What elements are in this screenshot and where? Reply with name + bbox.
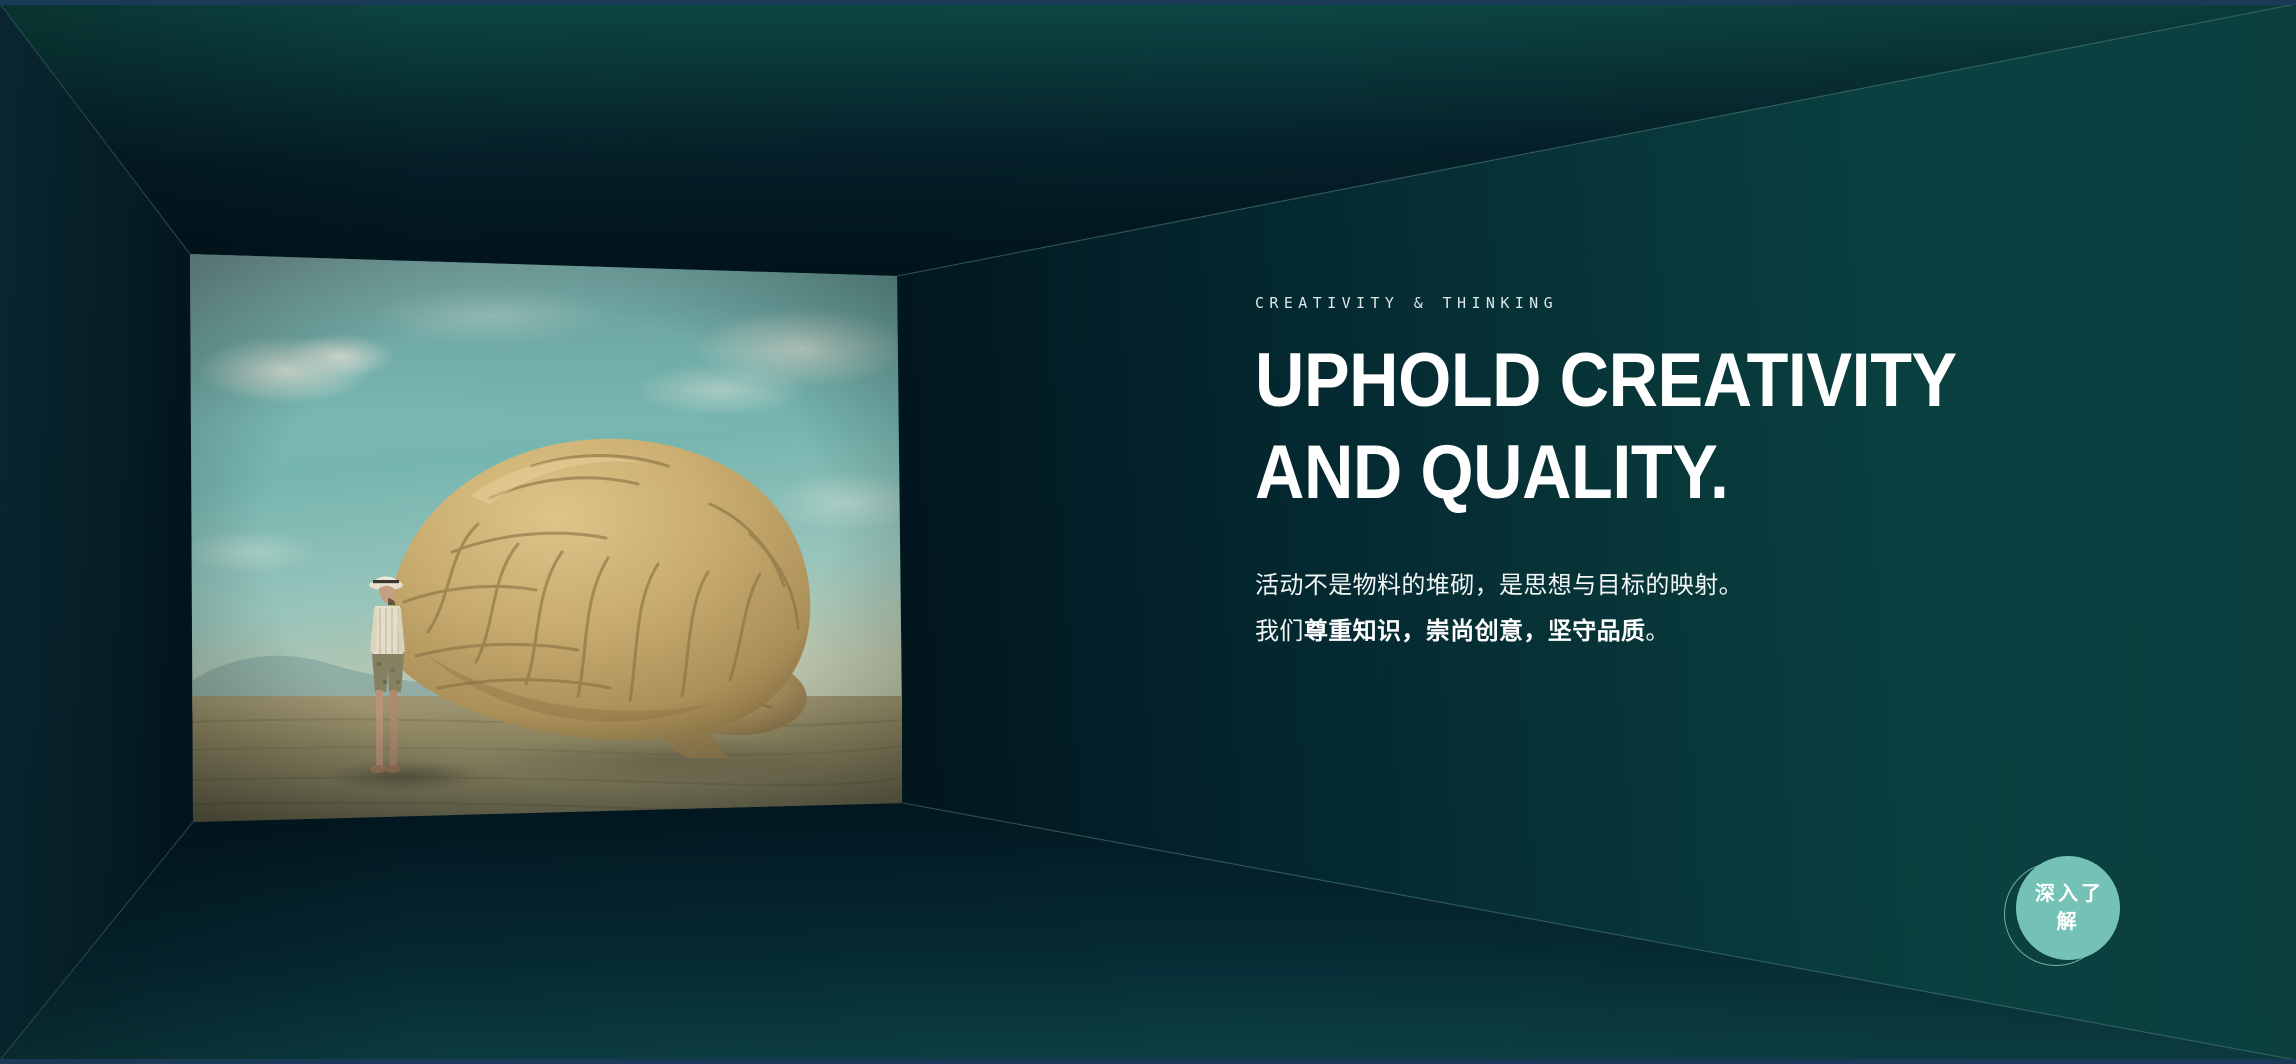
hero-section: CREATIVITY & THINKING UPHOLD CREATIVITY … bbox=[0, 0, 2296, 1064]
description-line-2-suffix: 。 bbox=[1645, 618, 1669, 645]
artwork-vignette bbox=[190, 252, 902, 822]
hero-description: 活动不是物料的堆砌，是思想与目标的映射。 我们尊重知识，崇尚创意，坚守品质。 bbox=[1255, 563, 2115, 655]
cta-label: 深入了解 bbox=[2031, 880, 2105, 936]
headline-line-1: UPHOLD CREATIVITY bbox=[1255, 335, 2029, 427]
page-title: UPHOLD CREATIVITY AND QUALITY. bbox=[1255, 335, 2029, 519]
page-edge-strip-top bbox=[0, 0, 2296, 5]
cta-disc[interactable]: 深入了解 bbox=[2016, 856, 2120, 960]
description-line-2-emphasis: 尊重知识，崇尚创意，坚守品质 bbox=[1304, 618, 1646, 645]
page-edge-strip-bottom bbox=[0, 1059, 2296, 1064]
description-line-2: 我们尊重知识，崇尚创意，坚守品质。 bbox=[1255, 609, 2115, 655]
hero-eyebrow: CREATIVITY & THINKING bbox=[1255, 296, 2115, 311]
hero-artwork-frame bbox=[190, 252, 902, 822]
hero-copy-block: CREATIVITY & THINKING UPHOLD CREATIVITY … bbox=[1255, 296, 2115, 655]
description-line-1: 活动不是物料的堆砌，是思想与目标的映射。 bbox=[1255, 563, 2115, 609]
headline-line-2: AND QUALITY. bbox=[1255, 427, 2029, 519]
brain-scene-illustration bbox=[190, 252, 902, 822]
description-line-2-prefix: 我们 bbox=[1255, 618, 1304, 645]
learn-more-button[interactable]: 深入了解 bbox=[2004, 856, 2120, 972]
